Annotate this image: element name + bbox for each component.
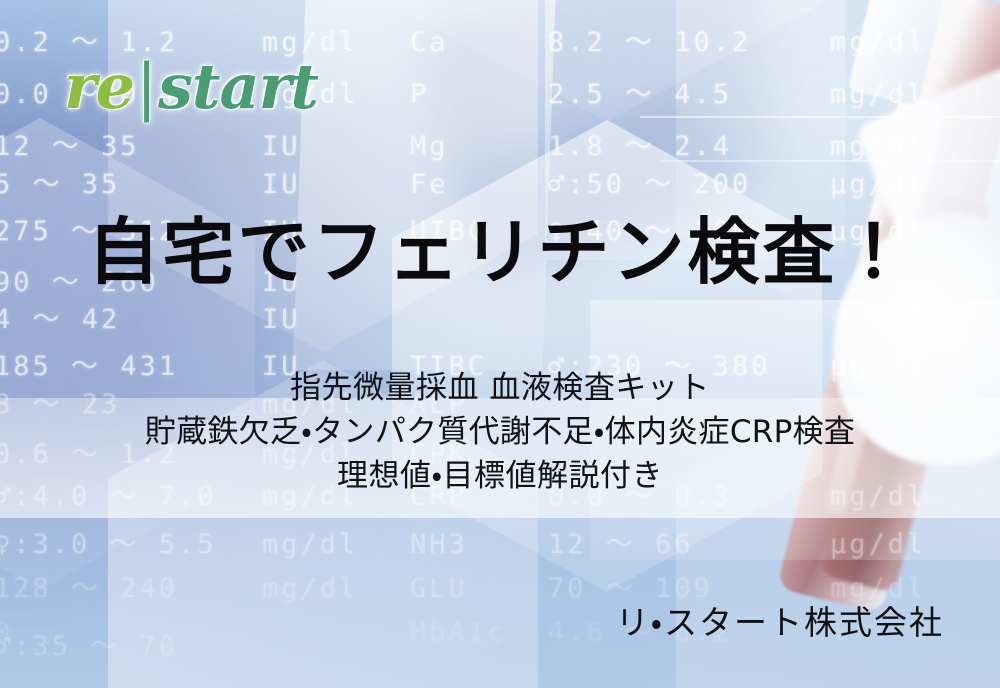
restart-logo[interactable]: re|start — [64, 56, 318, 118]
company-name: リ・スタート株式会社 — [616, 596, 944, 644]
headline: 自宅でフェリチン検査！ — [0, 215, 1000, 291]
glass-edge-line — [640, 116, 1000, 118]
subtitle-block: 指先微量採血 血液検査キット 貯蔵鉄欠乏・タンパク質代謝不足・体内炎症CRP検査… — [0, 366, 1000, 498]
logo-text-re: re — [64, 50, 134, 123]
subtitle-line-3: 理想値・目標値解説付き — [0, 454, 1000, 498]
logo-text-start: start — [158, 50, 318, 123]
bottom-fade — [0, 498, 1000, 688]
glass-panel — [292, 0, 557, 370]
logo-divider-bar: | — [134, 50, 158, 123]
subtitle-line-1: 指先微量採血 血液検査キット — [0, 366, 1000, 410]
subtitle-line-2: 貯蔵鉄欠乏・タンパク質代謝不足・体内炎症CRP検査 — [0, 410, 1000, 454]
promo-banner: 0.2 ～ 1.2mg/dlCa8.2 ～ 10.2mg/dl0.0 ～ 0.4… — [0, 0, 1000, 688]
glass-edge-line — [660, 160, 1000, 162]
